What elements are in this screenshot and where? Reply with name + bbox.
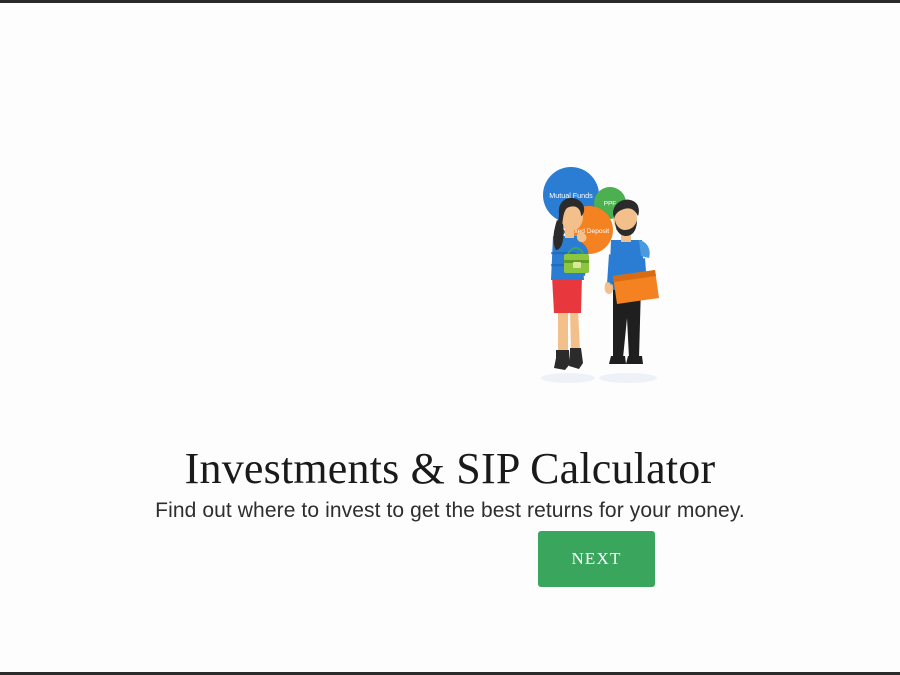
hero-illustration: Mutual Funds PPF Fixed Deposit ? ! (521, 158, 681, 393)
next-button[interactable]: NEXT (538, 531, 655, 587)
shadow-ellipse-right (599, 373, 657, 383)
onboarding-page: Mutual Funds PPF Fixed Deposit ? ! (0, 0, 900, 675)
shadow-ellipse-left (541, 373, 595, 383)
bubble-label-ppf: PPF (604, 201, 617, 208)
page-title: Investments & SIP Calculator (0, 444, 900, 495)
man-figure (605, 200, 659, 364)
page-subtitle: Find out where to invest to get the best… (0, 499, 900, 523)
